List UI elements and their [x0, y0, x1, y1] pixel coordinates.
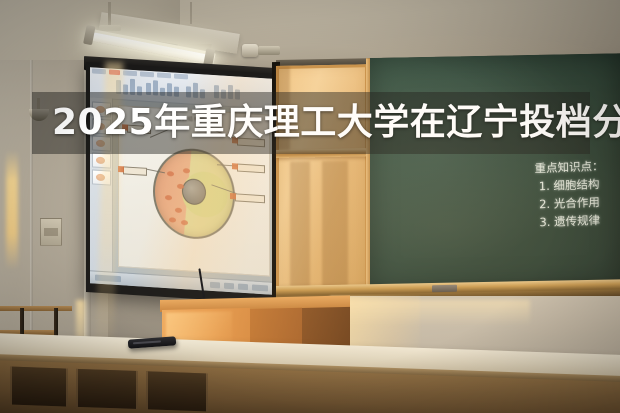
chalkboard: 重点知识点： 1. 细胞结构 2. 光合作用 3. 遗传规律	[370, 53, 620, 290]
slide-callout	[235, 193, 265, 203]
nucleus-icon	[182, 178, 206, 206]
page-title: 2025年重庆理工大学在辽宁投档分	[52, 98, 592, 148]
shelf-leg	[54, 308, 58, 338]
chalkboard-notes: 重点知识点： 1. 细胞结构 2. 光合作用 3. 遗传规律	[534, 157, 604, 232]
ceiling-camera-icon	[29, 104, 49, 120]
slide-thumbnail[interactable]	[92, 169, 111, 185]
slide-callout	[123, 166, 147, 176]
sunlight-strip	[6, 150, 18, 270]
wall-shelf	[0, 306, 72, 311]
slide-thumbnail[interactable]	[92, 152, 111, 168]
board-eraser-icon	[432, 285, 457, 292]
screen-bracket	[242, 44, 258, 57]
cell-diagram-icon	[153, 146, 235, 241]
slide-callout	[237, 164, 265, 174]
screen-bracket-arm	[258, 46, 280, 55]
light-switch-icon[interactable]	[40, 218, 62, 246]
classroom-photo: 细胞的结构模式图	[0, 0, 620, 413]
lower-wall-sunlight-band	[330, 300, 530, 326]
lamp-hanger-rod	[190, 2, 192, 24]
chalkboard-item: 3. 遗传规律	[535, 211, 604, 232]
